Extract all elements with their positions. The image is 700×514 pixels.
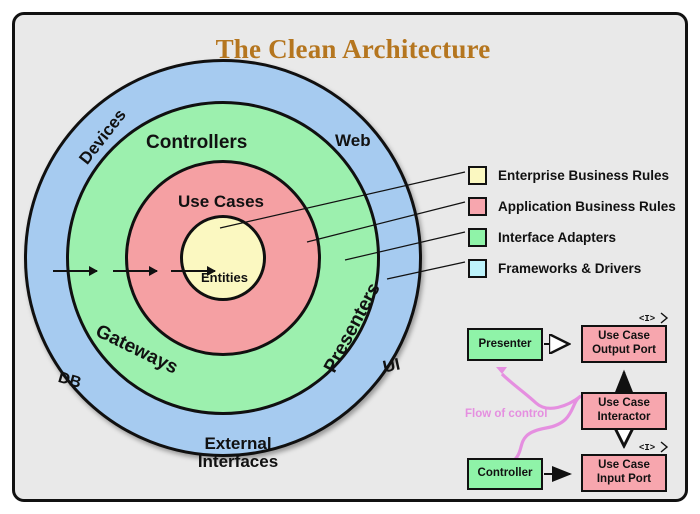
label-external-line2: Interfaces <box>198 452 278 471</box>
label-external-interfaces: External Interfaces <box>178 435 298 472</box>
legend-item-enterprise-business-rules: Enterprise Business Rules <box>468 162 676 188</box>
flow-box-use-case-interactor[interactable]: Use Case Interactor <box>581 392 667 430</box>
label-web: Web <box>335 132 371 150</box>
stereotype-interface-input-port: <I> <box>639 443 655 453</box>
flow-box-input-port-label: Use Case Input Port <box>597 459 651 486</box>
legend-item-application-business-rules: Application Business Rules <box>468 193 676 219</box>
dependency-arrow-2 <box>113 270 157 272</box>
flow-box-presenter[interactable]: Presenter <box>467 328 543 361</box>
label-ui: UI <box>381 355 401 376</box>
flow-box-presenter-label: Presenter <box>478 338 531 352</box>
flow-box-output-port-label: Use Case Output Port <box>592 330 656 357</box>
flow-box-controller-label: Controller <box>478 467 533 481</box>
legend-swatch-yellow <box>468 166 487 185</box>
label-controllers: Controllers <box>146 133 247 154</box>
legend-label-application-business-rules: Application Business Rules <box>498 199 676 214</box>
diagram-canvas: The Clean Architecture Controllers Use C… <box>0 0 700 514</box>
legend-label-enterprise-business-rules: Enterprise Business Rules <box>498 168 669 183</box>
legend-item-interface-adapters: Interface Adapters <box>468 224 676 250</box>
legend-label-frameworks-drivers: Frameworks & Drivers <box>498 261 641 276</box>
label-use-cases: Use Cases <box>178 193 264 211</box>
diagram-frame: The Clean Architecture Controllers Use C… <box>12 12 688 502</box>
flow-box-interactor-label: Use Case Interactor <box>597 397 650 424</box>
legend-label-interface-adapters: Interface Adapters <box>498 230 616 245</box>
legend-swatch-pink <box>468 197 487 216</box>
flow-box-interactor-line2: Interactor <box>597 411 650 423</box>
label-entities: Entities <box>201 271 248 285</box>
stereotype-interface-output-port: <I> <box>639 314 655 324</box>
dependency-arrow-1 <box>53 270 97 272</box>
legend-swatch-cyan <box>468 259 487 278</box>
flow-of-control-diagram: Presenter Use Case Output Port <I> Use C… <box>450 310 686 500</box>
flow-box-controller[interactable]: Controller <box>467 458 543 490</box>
ring-enterprise-business-rules <box>180 215 266 301</box>
legend-item-frameworks-drivers: Frameworks & Drivers <box>468 255 676 281</box>
flow-box-use-case-output-port[interactable]: Use Case Output Port <box>581 325 667 363</box>
flow-box-output-port-line2: Output Port <box>592 344 656 356</box>
flow-box-use-case-input-port[interactable]: Use Case Input Port <box>581 454 667 492</box>
legend: Enterprise Business Rules Application Bu… <box>468 162 676 286</box>
flow-box-interactor-line1: Use Case <box>598 397 650 409</box>
label-external-line1: External <box>204 434 271 453</box>
flow-box-output-port-line1: Use Case <box>598 330 650 342</box>
flow-of-control-caption: Flow of control <box>465 408 547 420</box>
flow-box-input-port-line1: Use Case <box>598 459 650 471</box>
legend-swatch-green <box>468 228 487 247</box>
flow-box-input-port-line2: Input Port <box>597 473 651 485</box>
